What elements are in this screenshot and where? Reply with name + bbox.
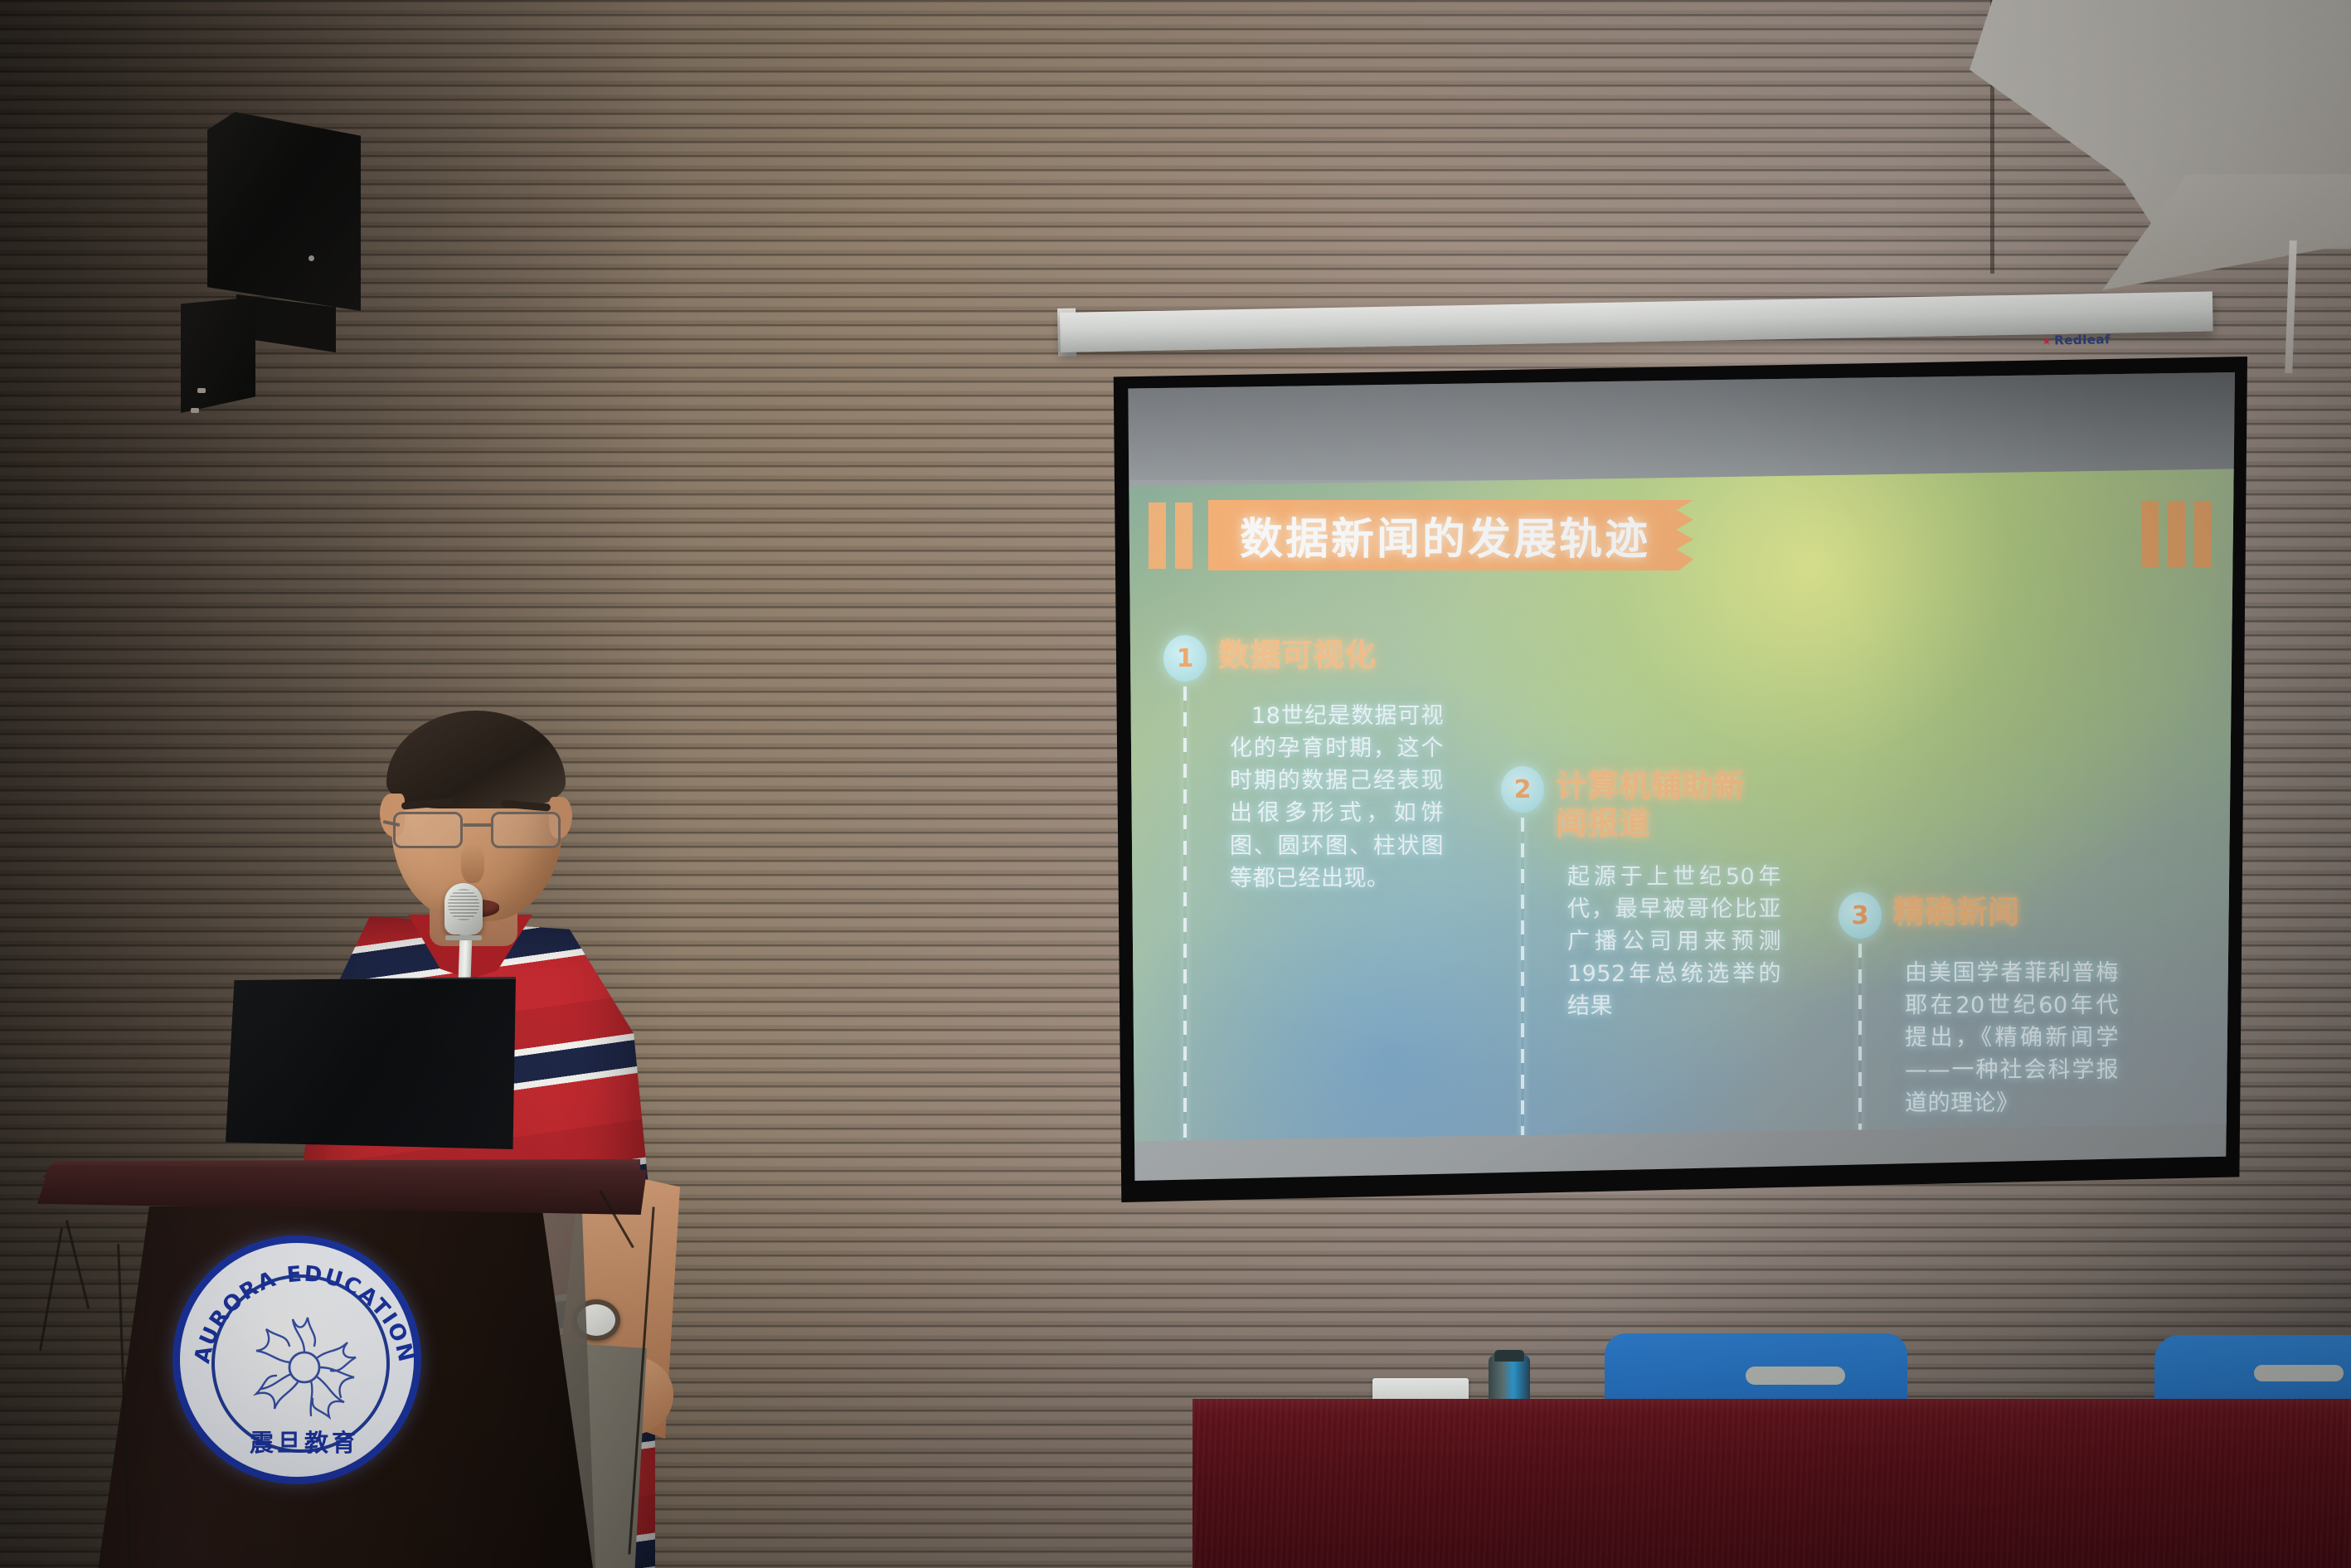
presenter-hair — [386, 711, 566, 808]
timeline-dashed-line-1 — [1183, 687, 1187, 1142]
presenter-nose — [461, 843, 484, 883]
title-accent-bars-left — [1149, 502, 1193, 569]
timeline-section-3: 3 精确新闻 由美国学者菲利普梅耶在20世纪60年代提出，《精确新闻学——一种社… — [1839, 892, 2112, 1119]
loudspeaker-bracket — [181, 297, 255, 413]
brand-star-icon: ★ — [2042, 336, 2052, 348]
slide-title: 数据新闻的发展轨迹 — [1240, 504, 1650, 566]
section-body-2: 起源于上世纪50年代，最早被哥伦比亚广播公司用来预测1952年总统选举的结果 — [1567, 861, 1781, 1023]
lecture-hall-scene: ★Redleaf 数据新闻的发展轨迹 1 — [0, 0, 2351, 1568]
white-box-on-table — [1372, 1378, 1469, 1401]
table-velvet-texture — [1193, 1399, 2351, 1568]
section-heading-3: 精确新闻 — [1893, 892, 2019, 931]
timeline-section-1: 1 数据可视化 18世纪是数据可视化的孕育时期，这个时期的数据己经表现出很多形式… — [1163, 635, 1437, 895]
water-bottle — [1489, 1355, 1530, 1403]
projection-screen-surface: 数据新闻的发展轨迹 1 数据可视化 18世纪是数据可视化的孕育时期，这个时期的数… — [1124, 371, 2235, 1181]
section-body-3: 由美国学者菲利普梅耶在20世纪60年代提出，《精确新闻学——一种社会科学报道的理… — [1905, 957, 2119, 1119]
microphone-grille — [448, 889, 479, 920]
section-heading-2: 计算机辅助新闻报道 — [1556, 766, 1775, 842]
screen-brand-label: ★Redleaf — [2042, 332, 2111, 348]
slide-title-band: 数据新闻的发展轨迹 — [1208, 500, 1693, 570]
eyeglass-bridge — [463, 823, 493, 827]
projected-slide: 数据新闻的发展轨迹 1 数据可视化 18世纪是数据可视化的孕育时期，这个时期的数… — [1124, 468, 2235, 1141]
bracket-screw-top — [197, 388, 206, 393]
timeline-dashed-line-2 — [1521, 818, 1524, 1142]
section-number-bubble-3: 3 — [1839, 892, 1882, 939]
bracket-screw-bottom — [191, 408, 199, 413]
title-accent-bars-right — [2141, 501, 2212, 567]
eyeglass-lens-left — [393, 812, 463, 848]
laptop-lid — [226, 977, 516, 1149]
section-number-bubble-1: 1 — [1163, 635, 1207, 682]
wall-loudspeaker — [207, 112, 361, 311]
sun-emblem-icon — [231, 1294, 377, 1440]
water-bottle-cap — [1494, 1350, 1524, 1362]
aurora-education-logo: AURORA EDUCATION 震旦教育 — [172, 1235, 421, 1484]
timeline-dashed-line-3 — [1858, 944, 1862, 1142]
blue-chair-left-handle-slot — [1746, 1367, 1845, 1385]
microphone-band — [445, 935, 482, 940]
blue-chair-right-handle-slot — [2254, 1365, 2344, 1381]
timeline-section-2: 2 计算机辅助新闻报道 起源于上世纪50年代，最早被哥伦比亚广播公司用来预测19… — [1501, 766, 1775, 1022]
section-number-bubble-2: 2 — [1501, 766, 1544, 813]
logo-chinese-label: 震旦教育 — [180, 1424, 429, 1459]
screen-unlit-top-area — [1124, 371, 2235, 480]
brand-name-text: Redleaf — [2054, 332, 2111, 347]
section-body-1: 18世纪是数据可视化的孕育时期，这个时期的数据己经表现出很多形式，如饼图、圆环图… — [1230, 700, 1444, 895]
loudspeaker-screw — [308, 255, 314, 261]
section-heading-1: 数据可视化 — [1218, 635, 1376, 674]
eyeglass-lens-right — [491, 812, 561, 848]
draped-table — [1193, 1399, 2351, 1568]
